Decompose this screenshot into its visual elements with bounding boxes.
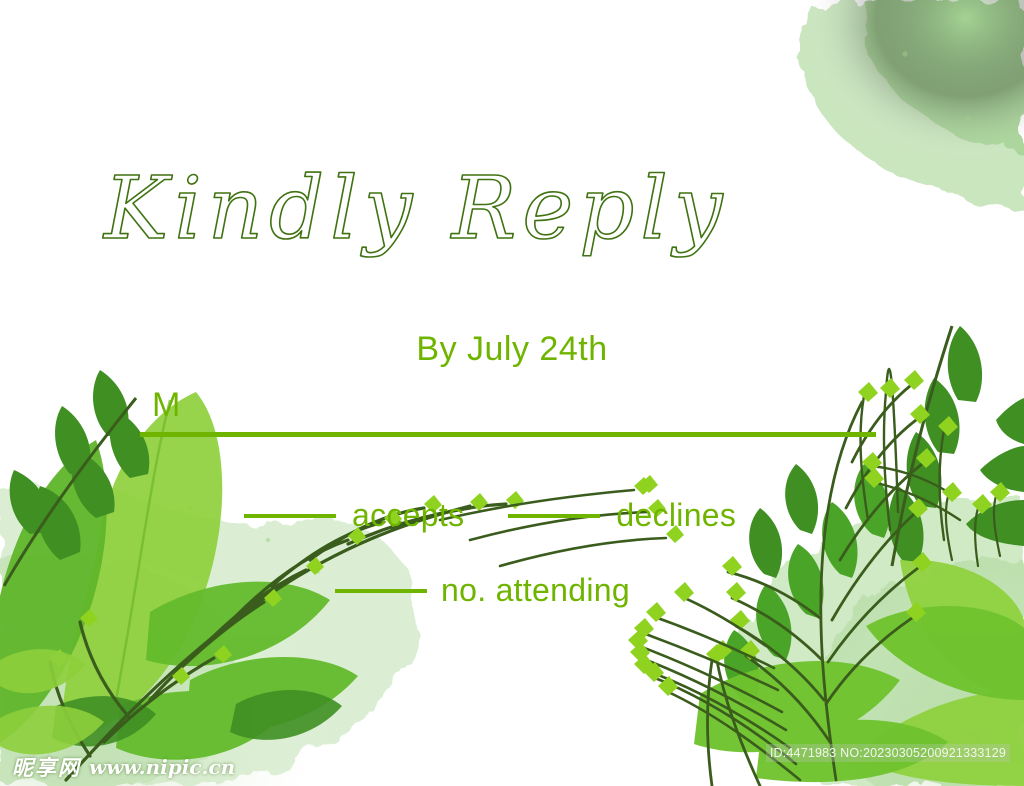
declines-label: declines [616,497,736,534]
attendance-choice-row: accepts declines [244,497,736,534]
script-title-text: Kindly Reply [102,159,728,259]
name-write-in-rule[interactable] [140,432,876,437]
rsvp-deadline: By July 24th [0,330,1024,369]
stock-image-id: ID:4471983 NO:20230305200921333129 [766,744,1010,762]
declines-blank-rule[interactable] [508,514,600,518]
attending-blank-rule[interactable] [335,589,427,593]
name-prefix-label: M [140,388,876,422]
site-watermark: 昵享网 www.nipic.cn [12,752,235,782]
attending-count-row: no. attending [335,572,630,609]
accepts-blank-rule[interactable] [244,514,336,518]
rsvp-card: Kindly Reply By July 24th M accepts decl… [0,0,1024,786]
nipic-url: www.nipic.cn [89,755,235,779]
accepts-label: accepts [352,497,464,534]
page-title: Kindly Reply [96,152,896,272]
nipic-logo: 昵享网 [12,752,81,782]
attending-label: no. attending [441,572,630,609]
script-title-svg: Kindly Reply [96,152,896,272]
guest-name-field[interactable]: M [140,388,876,437]
